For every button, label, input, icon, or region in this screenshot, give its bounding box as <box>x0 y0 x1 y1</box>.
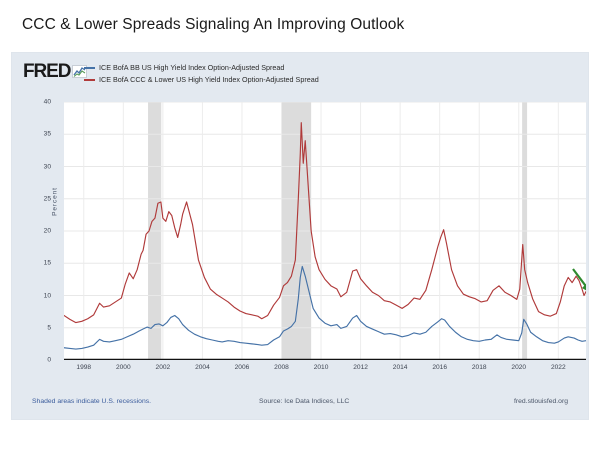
legend-label-bb: ICE BofA BB US High Yield Index Option-A… <box>99 63 284 72</box>
x-tick-label: 2006 <box>235 364 250 371</box>
y-tick-label: 25 <box>27 195 51 202</box>
chart-svg <box>64 102 586 360</box>
x-tick-label: 2020 <box>511 364 526 371</box>
legend-swatch-bb <box>84 67 95 69</box>
x-tick-label: 2018 <box>472 364 487 371</box>
x-tick-label: 2012 <box>353 364 368 371</box>
chart-legend: ICE BofA BB US High Yield Index Option-A… <box>84 62 319 86</box>
fred-wordmark: FRED <box>23 62 70 81</box>
footer-recessions-note: Shaded areas indicate U.S. recessions. <box>32 398 151 405</box>
legend-item-ccc: ICE BofA CCC & Lower US High Yield Index… <box>84 74 319 85</box>
plot-area <box>64 102 586 360</box>
y-tick-label: 30 <box>27 163 51 170</box>
legend-swatch-ccc <box>84 79 95 81</box>
y-axis-title: Percent <box>52 167 59 237</box>
x-tick-label: 2010 <box>314 364 329 371</box>
fred-chart-card: FRED ICE BofA BB US High Yield Index Opt… <box>11 52 589 420</box>
y-tick-label: 0 <box>27 357 51 364</box>
legend-item-bb: ICE BofA BB US High Yield Index Option-A… <box>84 62 319 73</box>
x-tick-label: 2004 <box>195 364 210 371</box>
series-line-ccc <box>64 123 586 323</box>
fred-chart-header: FRED ICE BofA BB US High Yield Index Opt… <box>12 53 588 97</box>
page-title: CCC & Lower Spreads Signaling An Improvi… <box>22 16 404 34</box>
x-tick-label: 1998 <box>76 364 91 371</box>
footer-source: Source: Ice Data Indices, LLC <box>259 398 349 405</box>
x-tick-label: 2022 <box>551 364 566 371</box>
fred-logo: FRED <box>23 62 87 81</box>
slide-root: CCC & Lower Spreads Signaling An Improvi… <box>0 0 600 450</box>
legend-label-ccc: ICE BofA CCC & Lower US High Yield Index… <box>99 75 319 84</box>
y-tick-label: 10 <box>27 292 51 299</box>
y-tick-label: 15 <box>27 260 51 267</box>
plot-wrapper: Percent 0510152025303540 199820002002200… <box>53 102 586 370</box>
footer-url[interactable]: fred.stlouisfed.org <box>514 398 568 405</box>
x-tick-label: 2002 <box>156 364 171 371</box>
y-tick-label: 35 <box>27 131 51 138</box>
x-tick-label: 2008 <box>274 364 289 371</box>
x-tick-label: 2014 <box>393 364 408 371</box>
chart-footer: Shaded areas indicate U.S. recessions. S… <box>12 398 588 410</box>
y-tick-label: 20 <box>27 228 51 235</box>
x-tick-label: 2016 <box>432 364 447 371</box>
x-tick-label: 2000 <box>116 364 131 371</box>
y-tick-label: 5 <box>27 324 51 331</box>
y-tick-label: 40 <box>27 99 51 106</box>
